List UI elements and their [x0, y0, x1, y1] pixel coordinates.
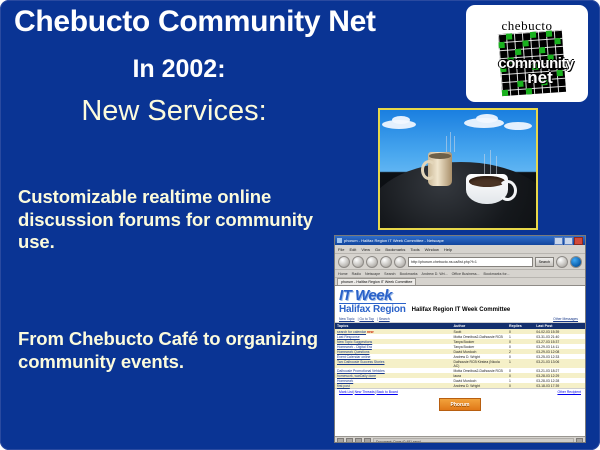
bookmark-netscape[interactable]: Netscape: [365, 272, 380, 276]
bookmark-home[interactable]: Home: [338, 272, 348, 276]
coffee-cup: [466, 174, 508, 204]
browser-menubar: File Edit View Go Bookmarks Tools Window…: [335, 245, 585, 254]
browser-toolbar: http://phorum.chebucto.ns.ca/list.php?f=…: [335, 254, 585, 270]
minimize-button[interactable]: [554, 237, 563, 245]
subtitle-year: In 2002:: [14, 56, 344, 82]
phorum-nav-bottom: Mark List| New Threads| Back to Board Ot…: [335, 388, 585, 395]
page-title: Chebucto Community Net: [14, 6, 454, 38]
browser-tab[interactable]: phorum - Halifax Region IT Week Committe…: [337, 278, 416, 285]
bookmark-search[interactable]: Search: [384, 272, 395, 276]
body-paragraph-1: Customizable realtime online discussion …: [18, 186, 318, 254]
menu-edit[interactable]: Edit: [349, 247, 356, 252]
footer-other-recipient[interactable]: Other Recipient: [557, 390, 581, 394]
nav-go-to-top[interactable]: Go to Top: [359, 317, 374, 321]
footer-links-group: Mark List| New Threads| Back to Board: [339, 390, 398, 394]
menu-tools[interactable]: Tools: [410, 247, 419, 252]
topics-table-body: search for calendar newScott004-02-03 15…: [335, 329, 585, 388]
table-row[interactable]: Dalhousie Promotional VehiclesMotta Omni…: [335, 368, 585, 373]
maximize-button[interactable]: [564, 237, 573, 245]
topic-link[interactable]: homework, warDaily done: [337, 374, 376, 378]
topic-link[interactable]: Event Calendar online: [337, 355, 370, 359]
stop-icon[interactable]: [380, 256, 392, 268]
bookmark-andrew[interactable]: Andrew D. Wri...: [422, 272, 448, 276]
cell-author: Dalhousie RCB Kirstea (Nicola AC): [452, 359, 507, 368]
table-row[interactable]: search for calendar newScott004-02-03 15…: [335, 329, 585, 334]
coffee-cups-photo: [378, 108, 538, 230]
status-security-icon[interactable]: [576, 438, 583, 443]
cell-last-post: 03-21-03 13:06: [534, 359, 585, 368]
nav-other-messages[interactable]: Other Messages: [553, 317, 578, 321]
browser-title: phorum - Halifax Region IT Week Committe…: [344, 238, 554, 243]
topic-link[interactable]: Two Dalhousie Success Stories: [337, 360, 385, 364]
itweek-header: IT Week Halifax Region Halifax Region IT…: [335, 286, 585, 316]
cell-author: Motta Omnibus2-Dalhousie RCB: [452, 368, 507, 373]
netscape-logo-icon[interactable]: [570, 256, 582, 268]
topic-link[interactable]: Homework Questions: [337, 350, 369, 354]
back-icon[interactable]: [338, 256, 350, 268]
close-button[interactable]: [574, 237, 583, 245]
browser-window-screenshot: phorum - Halifax Region IT Week Committe…: [334, 235, 586, 443]
nav-new-topic[interactable]: New Topic: [339, 317, 355, 321]
body-paragraph-2: From Chebucto Café to organizing communi…: [18, 328, 318, 373]
status-mail-icon[interactable]: [346, 438, 353, 443]
window-controls: [554, 237, 583, 245]
bookmark-bookmarks-for[interactable]: Bookmarks for...: [484, 272, 510, 276]
browser-bookmarks-bar: Home Radio Netscape Search Bookmarks And…: [335, 270, 585, 278]
cell-topic[interactable]: Two Dalhousie Success Stories: [335, 359, 452, 368]
topic-link[interactable]: Homework: [337, 379, 353, 383]
forward-icon[interactable]: [352, 256, 364, 268]
menu-file[interactable]: File: [338, 247, 344, 252]
slide-canvas: Chebucto Community Net In 2002: New Serv…: [0, 0, 600, 450]
itweek-logo-word: IT Week: [339, 289, 406, 303]
nav-links-group: New Topic| Go to Top| Search: [339, 317, 393, 321]
logo-text-net: net: [500, 68, 580, 88]
bookmark-office[interactable]: Office Business...: [452, 272, 480, 276]
browser-statusbar: Document: Done (0.481 secs): [335, 436, 585, 443]
page-heading: Halifax Region IT Week Committee: [412, 307, 511, 315]
topic-link[interactable]: first post: [337, 384, 350, 388]
netscape-icon: [337, 238, 342, 243]
cell-replies: 1: [507, 359, 534, 368]
menu-view[interactable]: View: [361, 247, 370, 252]
topic-link[interactable]: Homework - Digital Era: [337, 345, 372, 349]
status-composer-icon[interactable]: [355, 438, 362, 443]
topic-link[interactable]: Dalhousie Promotional Vehicles: [337, 369, 385, 373]
chebucto-logo: chebucto community ne: [466, 5, 588, 102]
topic-link[interactable]: New Topic Suggestions: [337, 340, 372, 344]
footer-back-to-board[interactable]: Back to Board: [377, 390, 398, 394]
home-icon[interactable]: [394, 256, 406, 268]
phorum-logo[interactable]: Phorum: [439, 398, 481, 411]
search-button[interactable]: Search: [535, 257, 554, 267]
footer-new-threads[interactable]: New Threads: [355, 390, 375, 394]
table-row[interactable]: Two Dalhousie Success StoriesDalhousie R…: [335, 359, 585, 368]
topics-table: Topics Author Replies Last Post search f…: [335, 323, 585, 388]
status-online-icon[interactable]: [337, 438, 344, 443]
browser-tabbar: phorum - Halifax Region IT Week Committe…: [335, 278, 585, 286]
browser-titlebar: phorum - Halifax Region IT Week Committe…: [335, 236, 585, 245]
subtitle-new-services: New Services:: [14, 96, 334, 126]
menu-window[interactable]: Window: [425, 247, 439, 252]
nav-search[interactable]: Search: [379, 317, 390, 321]
tall-mug: [428, 152, 452, 186]
table-row[interactable]: homework, warDaily donelaura003-28-03 12…: [335, 373, 585, 378]
bookmark-radio[interactable]: Radio: [352, 272, 361, 276]
reload-icon[interactable]: [366, 256, 378, 268]
print-icon[interactable]: [556, 256, 568, 268]
status-addressbook-icon[interactable]: [364, 438, 371, 443]
bookmark-bookmarks[interactable]: Bookmarks: [400, 272, 418, 276]
status-message: Document: Done (0.481 secs): [373, 438, 574, 444]
itweek-logo-region: Halifax Region: [339, 303, 406, 315]
phorum-nav-top: New Topic| Go to Top| Search Other Messa…: [335, 316, 585, 323]
footer-mark-list[interactable]: Mark List: [339, 390, 353, 394]
new-badge: new: [366, 330, 374, 334]
topic-link[interactable]: search for calendar: [337, 330, 366, 334]
itweek-logo: IT Week Halifax Region: [339, 289, 406, 315]
menu-help[interactable]: Help: [444, 247, 452, 252]
menu-bookmarks[interactable]: Bookmarks: [385, 247, 405, 252]
cell-author: Motta Omnibus2-Dalhousie RCB: [452, 334, 507, 339]
url-input[interactable]: http://phorum.chebucto.ns.ca/list.php?f=…: [408, 257, 533, 267]
chebucto-logo-inner: chebucto community ne: [466, 5, 588, 102]
topic-link[interactable]: Last Response: [337, 335, 360, 339]
menu-go[interactable]: Go: [375, 247, 380, 252]
page-content: IT Week Halifax Region Halifax Region IT…: [335, 286, 585, 436]
